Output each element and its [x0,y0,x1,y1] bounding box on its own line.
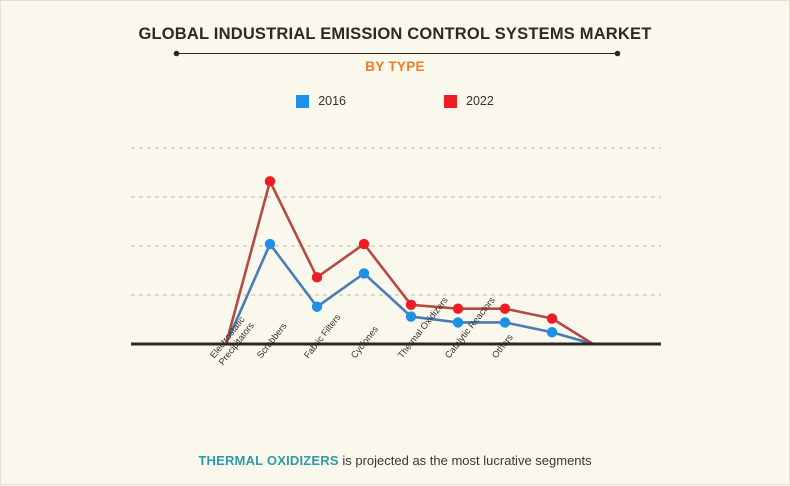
x-axis-label-1: Scrubbers [255,321,289,360]
footer-annotation: THERMAL OXIDIZERS is projected as the mo… [1,453,789,468]
data-point-2022-5[interactable] [500,304,510,314]
data-point-2016-6[interactable] [547,327,557,337]
square-swatch-blue-icon [296,95,309,108]
x-axis-label-0: Electrostatic Precipitators [208,314,256,367]
legend-label-2016: 2016 [318,94,346,108]
x-axis-label-6: Others [490,332,515,360]
data-point-2022-3[interactable] [406,300,416,310]
legend-item-2022[interactable]: 2022 [444,94,494,108]
data-point-2016-1[interactable] [312,302,322,312]
data-point-2022-6[interactable] [547,313,557,323]
data-point-2016-4[interactable] [453,317,463,327]
chart-legend: 2016 2022 [1,94,789,108]
data-point-2016-3[interactable] [406,311,416,321]
data-point-2022-1[interactable] [312,272,322,282]
page-title: GLOBAL INDUSTRIAL EMISSION CONTROL SYSTE… [1,25,789,44]
gridlines [131,148,661,295]
x-axis-label-2: Fabric Filters [302,312,343,360]
square-swatch-red-icon [444,95,457,108]
data-point-2016-5[interactable] [500,317,510,327]
legend-item-2016[interactable]: 2016 [296,94,346,108]
data-point-2016-0[interactable] [265,239,275,249]
footer-highlight: THERMAL OXIDIZERS [198,453,338,468]
title-divider-icon [173,50,621,57]
series-lines [226,181,593,344]
x-axis-label-4: Thermal Oxidizers [396,295,450,360]
data-point-2022-2[interactable] [359,239,369,249]
chart-card: GLOBAL INDUSTRIAL EMISSION CONTROL SYSTE… [0,0,790,485]
footer-rest: is projected as the most lucrative segme… [339,453,592,468]
x-axis-label-3: Cyclones [349,324,381,360]
data-point-2022-4[interactable] [453,304,463,314]
data-point-2022-0[interactable] [265,176,275,186]
legend-label-2022: 2022 [466,94,494,108]
x-axis-label-5: Catalytic Reactors [443,295,497,360]
chart-subtitle: BY TYPE [1,59,789,74]
data-point-2016-2[interactable] [359,268,369,278]
series-line-2022 [226,181,593,344]
series-markers [265,176,557,337]
